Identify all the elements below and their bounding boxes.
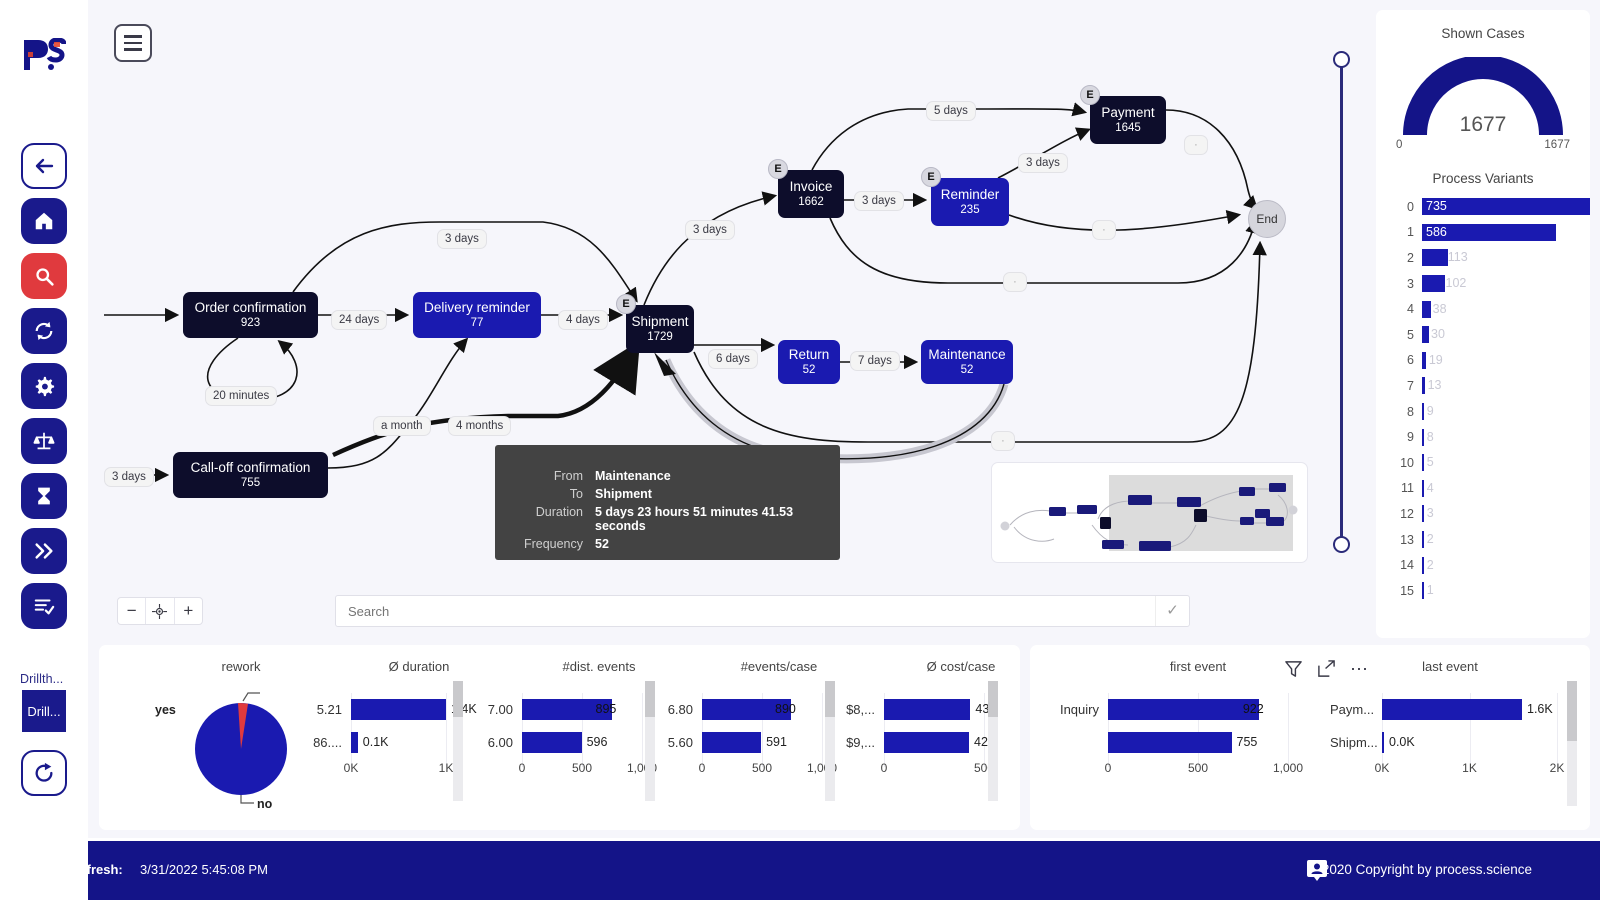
variant-row[interactable]: 438	[1376, 296, 1590, 322]
tooltip-key: Frequency	[495, 535, 595, 553]
edge-label-collapsed[interactable]: ·	[1184, 135, 1208, 155]
zoom-in-button[interactable]: +	[175, 598, 202, 624]
slider-handle-bottom[interactable]	[1333, 536, 1350, 553]
variant-bar-wrapper: 30	[1422, 326, 1590, 343]
chart-bar	[884, 699, 970, 720]
edge-label[interactable]: 24 days	[331, 310, 387, 330]
chart-bar	[522, 732, 582, 753]
node-count: 52	[961, 364, 974, 377]
node-label: Call-off confirmation	[191, 460, 311, 476]
chart-x-tick: 1K	[439, 761, 454, 775]
node-count: 235	[960, 204, 979, 217]
variant-bar-wrapper: 9	[1422, 403, 1590, 420]
last-event-scrollbar[interactable]	[1567, 681, 1577, 806]
chart-bar-value: 755	[1237, 732, 1258, 753]
variant-bar-wrapper: 113	[1422, 249, 1590, 266]
variant-bar-wrapper: 19	[1422, 352, 1590, 369]
variant-bar-wrapper: 735	[1422, 198, 1590, 215]
edge-label[interactable]: 3 days	[1018, 153, 1068, 173]
chart-x-axis: 0500	[832, 759, 1002, 777]
sidebar-item-advance[interactable]	[21, 528, 67, 574]
graph-node-shipment[interactable]: EShipment1729	[626, 305, 694, 353]
sidebar-item-reload[interactable]	[21, 750, 67, 796]
kpi-title-dist-events: #dist. events	[519, 659, 679, 674]
variant-value: 735	[1426, 198, 1447, 215]
variant-index: 6	[1396, 353, 1422, 367]
sidebar-item-compare[interactable]	[21, 418, 67, 464]
duration-scrollbar[interactable]	[453, 681, 463, 801]
chart-category-label: Paym...	[1330, 702, 1382, 717]
chart-x-tick: 0K	[1375, 761, 1390, 775]
variant-row[interactable]: 123	[1376, 501, 1590, 527]
edge-label-collapsed[interactable]: ·	[1092, 220, 1116, 240]
variant-value: 2	[1427, 531, 1434, 548]
zoom-fit-icon[interactable]	[146, 598, 174, 624]
variant-bar-wrapper: 5	[1422, 454, 1590, 471]
variant-row[interactable]: 151	[1376, 578, 1590, 604]
search-confirm-icon[interactable]: ✓	[1155, 596, 1189, 626]
chart-bar-value: 895	[596, 699, 617, 720]
chart-plot-area: Paym...1.6KShipm...0.0K	[1330, 693, 1562, 759]
variant-index: 8	[1396, 405, 1422, 419]
node-label: Order confirmation	[195, 300, 307, 316]
edge-label[interactable]: 5 days	[926, 101, 976, 121]
chart-category-label: Shipm...	[1330, 735, 1382, 750]
variant-bar	[1422, 480, 1424, 497]
edge-label[interactable]: a month	[373, 416, 431, 436]
tooltip-value: 52	[595, 535, 840, 553]
graph-node-invoice[interactable]: EInvoice1662	[778, 170, 844, 218]
variant-bar-wrapper: 4	[1422, 480, 1590, 497]
variant-index: 4	[1396, 302, 1422, 316]
tooltip-row: Frequency 52	[495, 535, 840, 553]
list-check-icon	[33, 595, 55, 617]
chart-x-axis: 0K1K2K	[1330, 759, 1562, 777]
kpi-title-events-case: #events/case	[699, 659, 859, 674]
variant-row[interactable]: 2113	[1376, 245, 1590, 271]
chart-bar-value: 596	[587, 732, 608, 753]
chart-bar	[702, 732, 761, 753]
chart-x-tick: 0	[1105, 761, 1112, 775]
chart-bar-row[interactable]: 7.00895	[474, 693, 674, 726]
tooltip-key: To	[495, 485, 595, 503]
chart-x-tick: 1,000	[1273, 761, 1303, 775]
gear-icon	[33, 375, 55, 397]
chart-x-tick: 2K	[1550, 761, 1565, 775]
graph-node-order[interactable]: Order confirmation923	[183, 292, 318, 338]
node-label: Delivery reminder	[424, 300, 530, 316]
edge-tooltip: From Maintenance To Shipment Duration 5 …	[495, 445, 840, 560]
chart-x-tick: 0K	[344, 761, 359, 775]
variant-index: 11	[1396, 481, 1422, 495]
variant-value: 38	[1433, 301, 1447, 318]
search-bar[interactable]: ✓	[335, 595, 1190, 627]
gauge-min: 0	[1396, 139, 1402, 151]
graph-node-reminder[interactable]: EReminder235	[931, 178, 1009, 226]
first-event-bar-chart[interactable]: Inquiry92275505001,000	[1050, 693, 1310, 777]
variant-bar	[1422, 275, 1445, 292]
double-chevron-right-icon	[33, 540, 55, 562]
process-variants-list[interactable]: 0735158621133102438530619713899810511412…	[1376, 194, 1590, 604]
variant-row[interactable]: 0735	[1376, 194, 1590, 220]
chart-category-label: 86....	[305, 735, 351, 750]
chart-bar-row[interactable]: $8,...432	[832, 693, 1002, 726]
process-variants-title: Process Variants	[1376, 171, 1590, 186]
kpi-title-duration: Ø duration	[339, 659, 499, 674]
drillthrough-button[interactable]: Drill...	[22, 690, 66, 732]
variant-value: 5	[1427, 454, 1434, 471]
edge-label[interactable]: 3 days	[437, 229, 487, 249]
search-input[interactable]	[336, 604, 1155, 619]
chart-bar-value: 591	[766, 732, 787, 753]
sidebar-item-duration[interactable]	[21, 473, 67, 519]
chart-category-label: 7.00	[474, 702, 522, 717]
variant-bar	[1422, 249, 1448, 266]
chart-bar-row[interactable]: $9,...425	[832, 726, 1002, 759]
edge-label[interactable]: 20 minutes	[205, 386, 277, 406]
variant-bar	[1422, 377, 1425, 394]
variant-value: 13	[1428, 377, 1442, 394]
cost-case-scrollbar[interactable]	[988, 681, 998, 801]
variant-row[interactable]: 713	[1376, 373, 1590, 399]
variant-row[interactable]: 98	[1376, 424, 1590, 450]
slider-track[interactable]	[1340, 52, 1343, 552]
edge-label[interactable]: 6 days	[708, 349, 758, 369]
variant-index: 10	[1396, 456, 1422, 470]
graph-depth-slider[interactable]	[1330, 42, 1352, 562]
variant-bar-wrapper: 586	[1422, 224, 1590, 241]
chart-category-label: $8,...	[832, 702, 884, 717]
chart-bar-row[interactable]: Inquiry922	[1050, 693, 1310, 726]
variant-value: 586	[1426, 224, 1447, 241]
variant-bar	[1422, 557, 1424, 574]
variant-index: 7	[1396, 379, 1422, 393]
shown-cases-gauge: 1677	[1403, 57, 1563, 135]
edge-label-collapsed[interactable]: ·	[1003, 272, 1027, 292]
variant-row[interactable]: 619	[1376, 348, 1590, 374]
chart-bar	[1108, 699, 1259, 720]
status-bar: Last refresh: 3/31/2022 5:45:08 PM 2020 …	[0, 841, 1600, 900]
variant-row[interactable]: 142	[1376, 552, 1590, 578]
events-per-case-bar-chart[interactable]: 6.808905.6059105001,000	[654, 693, 854, 777]
variant-index: 1	[1396, 225, 1422, 239]
reload-icon	[33, 762, 55, 784]
kpi-title-first-event: first event	[1088, 659, 1308, 674]
tooltip-row: To Shipment	[495, 485, 840, 503]
graph-node-delivery[interactable]: Delivery reminder77	[413, 292, 541, 338]
scales-icon	[33, 430, 55, 452]
kpi-title-last-event: last event	[1360, 659, 1540, 674]
chart-bar-area: 425	[884, 726, 1002, 759]
chart-bar-value: 0.1K	[363, 732, 389, 753]
node-count: 77	[471, 317, 484, 330]
edge-label[interactable]: 3 days	[685, 220, 735, 240]
gauge-value: 1677	[1403, 113, 1563, 137]
shown-cases-title: Shown Cases	[1376, 26, 1590, 41]
node-label: Reminder	[941, 187, 1000, 203]
chart-plot-area: 7.008956.00596	[474, 693, 674, 759]
node-label: Maintenance	[928, 347, 1005, 363]
variant-index: 15	[1396, 584, 1422, 598]
graph-node-calloff[interactable]: Call-off confirmation755	[173, 452, 328, 498]
sync-icon	[33, 320, 55, 342]
graph-minimap[interactable]	[991, 462, 1308, 563]
chart-bar	[884, 732, 969, 753]
home-icon	[33, 210, 55, 232]
chart-bar-area: 1.6K	[1382, 693, 1562, 726]
variant-bar	[1422, 326, 1429, 343]
node-count: 1662	[798, 196, 824, 209]
chart-category-label: Inquiry	[1050, 702, 1108, 717]
chart-bar-value: 890	[775, 699, 796, 720]
edge-label[interactable]: 4 days	[558, 310, 608, 330]
graph-node-maintenance[interactable]: Maintenance52	[921, 340, 1013, 384]
arrow-left-icon	[32, 154, 56, 178]
chart-x-axis: 05001,000	[654, 759, 854, 777]
sidebar-item-checklist[interactable]	[21, 583, 67, 629]
variant-row[interactable]: 89	[1376, 399, 1590, 425]
chart-bar	[1382, 732, 1384, 753]
tooltip-value: 5 days 23 hours 51 minutes 41.53 seconds	[595, 503, 840, 535]
variant-index: 5	[1396, 328, 1422, 342]
variant-bar	[1422, 198, 1590, 215]
chart-bar	[351, 732, 358, 753]
chart-bar-value: 0.0K	[1389, 732, 1415, 753]
node-label: Shipment	[631, 314, 688, 330]
variant-bar	[1422, 582, 1424, 599]
chart-category-label: $9,...	[832, 735, 884, 750]
edge-label[interactable]: 3 days	[104, 467, 154, 487]
chart-x-tick: 500	[1188, 761, 1208, 775]
chart-bar-row[interactable]: 755	[1050, 726, 1310, 759]
variant-value: 8	[1427, 429, 1434, 446]
variant-index: 2	[1396, 251, 1422, 265]
app-logo	[22, 38, 66, 72]
tooltip-row: Duration 5 days 23 hours 51 minutes 41.5…	[495, 503, 840, 535]
variant-value: 113	[1448, 249, 1468, 266]
variant-bar-wrapper: 3	[1422, 505, 1590, 522]
variant-bar-wrapper: 102	[1422, 275, 1590, 292]
slider-handle-top[interactable]	[1333, 51, 1350, 68]
chart-x-tick: 0	[519, 761, 526, 775]
focus-mode-icon[interactable]	[1317, 659, 1336, 683]
variant-bar	[1422, 301, 1431, 318]
chart-bar	[1382, 699, 1522, 720]
tooltip-key: Duration	[495, 503, 595, 535]
node-label: Invoice	[790, 179, 833, 195]
sidebar-item-back[interactable]	[21, 143, 67, 189]
gauge-max: 1677	[1544, 139, 1570, 151]
tooltip-value: Maintenance	[595, 467, 840, 485]
variant-bar	[1422, 531, 1424, 548]
variant-row[interactable]: 105	[1376, 450, 1590, 476]
variant-index: 9	[1396, 430, 1422, 444]
variant-value: 2	[1427, 557, 1434, 574]
sidebar-item-explore[interactable]	[21, 253, 67, 299]
variant-value: 4	[1427, 480, 1434, 497]
chart-plot-area: 6.808905.60591	[654, 693, 854, 759]
variant-row[interactable]: 114	[1376, 476, 1590, 502]
pie-label-no: no	[257, 797, 272, 811]
chart-plot-area: $8,...432$9,...425	[832, 693, 1002, 759]
variant-value: 1	[1427, 582, 1434, 599]
sidebar-item-home[interactable]	[21, 198, 67, 244]
variant-bar	[1422, 454, 1424, 471]
chart-x-axis: 05001,000	[1050, 759, 1310, 777]
tooltip-value: Shipment	[595, 485, 840, 503]
kpi-card-right: first event Inquiry92275505001,000 ⋯ las…	[1030, 645, 1590, 830]
variant-row[interactable]: 530	[1376, 322, 1590, 348]
variant-bar	[1422, 429, 1424, 446]
node-label: Return	[789, 347, 830, 363]
event-badge-icon: E	[1080, 85, 1100, 105]
chart-bar-area: 432	[884, 693, 1002, 726]
variant-value: 30	[1431, 326, 1445, 343]
variant-bar-wrapper: 38	[1422, 301, 1590, 318]
event-badge-icon: E	[616, 294, 636, 314]
pie-label-yes: yes	[155, 703, 176, 717]
edge-label[interactable]: 3 days	[854, 191, 904, 211]
chart-category-label: 5.60	[654, 735, 702, 750]
chart-x-tick: 0	[699, 761, 706, 775]
kpi-title-rework: rework	[141, 659, 341, 674]
chart-bar	[351, 699, 446, 720]
sidebar-item-refresh-process[interactable]	[21, 308, 67, 354]
zoom-out-button[interactable]: −	[118, 598, 146, 624]
chart-bar-area: 755	[1108, 726, 1310, 759]
chart-bar-row[interactable]: Shipm...0.0K	[1330, 726, 1562, 759]
chart-x-tick: 500	[572, 761, 592, 775]
chart-bar-area: 0.0K	[1382, 726, 1562, 759]
zoom-controls[interactable]: − +	[117, 597, 203, 625]
rework-pie-chart[interactable]: yes no	[156, 687, 326, 817]
chart-x-tick: 500	[752, 761, 772, 775]
magnifier-icon	[34, 266, 55, 287]
end-node[interactable]: End	[1248, 200, 1286, 238]
chart-category-label: 5.21	[305, 702, 351, 717]
event-badge-icon: E	[768, 159, 788, 179]
edge-label[interactable]: 7 days	[850, 351, 900, 371]
cost-per-case-bar-chart[interactable]: $8,...432$9,...4250500	[832, 693, 1002, 777]
node-count: 923	[241, 317, 260, 330]
variant-value: 19	[1429, 352, 1443, 369]
node-count: 1645	[1115, 122, 1141, 135]
chart-bar-value: 922	[1243, 699, 1264, 720]
variant-bar-wrapper: 1	[1422, 582, 1590, 599]
left-sidebar: Drillth... Drill...	[0, 0, 88, 900]
filter-icon[interactable]	[1284, 659, 1303, 683]
edge-label[interactable]: 4 months	[448, 416, 511, 436]
chart-x-axis: 05001,000	[474, 759, 674, 777]
variant-row[interactable]: 1586	[1376, 220, 1590, 246]
graph-node-return[interactable]: Return52	[778, 340, 840, 384]
node-count: 755	[241, 477, 260, 490]
edge-label-collapsed[interactable]: ·	[991, 431, 1015, 451]
variant-index: 3	[1396, 277, 1422, 291]
tooltip-row: From Maintenance	[495, 467, 840, 485]
node-label: Payment	[1101, 105, 1154, 121]
chart-category-label: 6.80	[654, 702, 702, 717]
hourglass-icon	[34, 485, 54, 507]
kpi-card-left: rework yes no Ø duration 5.211.4K86....0…	[99, 645, 1020, 830]
chart-bar-row[interactable]: 5.60591	[654, 726, 854, 759]
variant-index: 14	[1396, 558, 1422, 572]
event-badge-icon: E	[921, 167, 941, 187]
sidebar-item-settings[interactable]	[21, 363, 67, 409]
last-refresh-time: 3/31/2022 5:45:08 PM	[140, 862, 268, 877]
graph-node-payment[interactable]: EPayment1645	[1090, 96, 1166, 144]
chart-bar-row[interactable]: Paym...1.6K	[1330, 693, 1562, 726]
variant-bar	[1422, 505, 1424, 522]
right-panel: Shown Cases 1677 0 1677 Process Variants…	[1376, 10, 1590, 638]
variant-bar-wrapper: 2	[1422, 531, 1590, 548]
drillthrough-label: Drillth...	[20, 672, 63, 686]
copyright-text: 2020 Copyright by process.science	[1322, 862, 1532, 877]
kpi-title-cost-case: Ø cost/case	[881, 659, 1041, 674]
variant-value: 3	[1427, 505, 1434, 522]
chart-x-tick: 1K	[1462, 761, 1477, 775]
chart-bar-row[interactable]: 6.00596	[474, 726, 674, 759]
variant-index: 12	[1396, 507, 1422, 521]
variant-bar	[1422, 352, 1426, 369]
chart-bar	[1108, 732, 1232, 753]
variant-index: 0	[1396, 200, 1422, 214]
chart-bar-area: 922	[1108, 693, 1310, 726]
gauge-scale: 0 1677	[1396, 139, 1570, 151]
node-count: 1729	[647, 331, 673, 344]
variant-bar-wrapper: 2	[1422, 557, 1590, 574]
variant-bar-wrapper: 13	[1422, 377, 1590, 394]
variant-value: 9	[1427, 403, 1434, 420]
variant-row[interactable]: 3102	[1376, 271, 1590, 297]
variant-value: 102	[1446, 275, 1467, 292]
variant-index: 13	[1396, 533, 1422, 547]
variant-bar-wrapper: 8	[1422, 429, 1590, 446]
variant-row[interactable]: 132	[1376, 527, 1590, 553]
chart-category-label: 6.00	[474, 735, 522, 750]
node-count: 52	[803, 364, 816, 377]
chart-plot-area: Inquiry922755	[1050, 693, 1310, 759]
variant-bar	[1422, 403, 1424, 420]
last-event-bar-chart[interactable]: Paym...1.6KShipm...0.0K0K1K2K	[1330, 693, 1562, 777]
chart-bar-value: 1.6K	[1527, 699, 1553, 720]
chart-bar-row[interactable]: 6.80890	[654, 693, 854, 726]
dist-events-bar-chart[interactable]: 7.008956.0059605001,000	[474, 693, 674, 777]
tooltip-key: From	[495, 467, 595, 485]
chart-x-tick: 0	[881, 761, 888, 775]
